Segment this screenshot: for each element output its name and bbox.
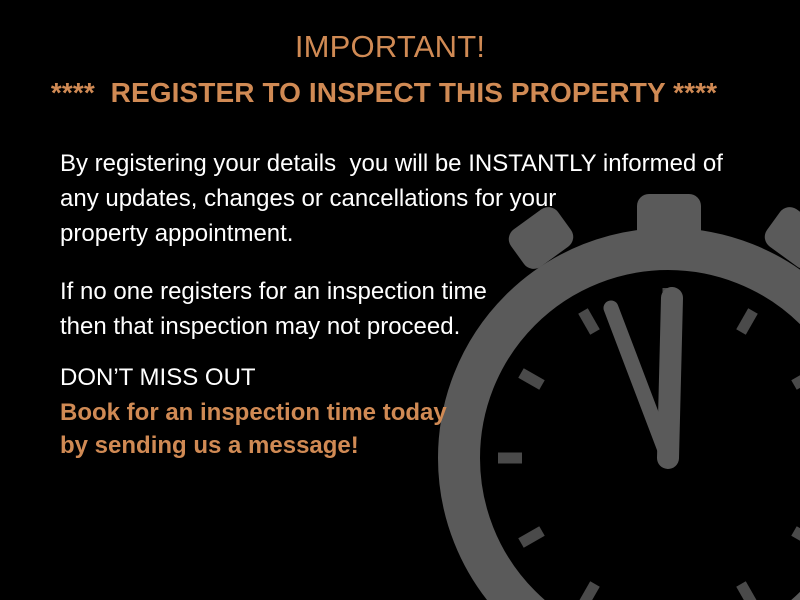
paragraph-no-one-registers: If no one registers for an inspection ti… [60,274,487,344]
promo-slide: IMPORTANT! **** REGISTER TO INSPECT THIS… [0,0,800,600]
cta-book-inspection-line: Book for an inspection time today [60,395,447,430]
cta-dont-miss-out: DON’T MISS OUT [60,360,256,395]
headline-register-to-inspect: **** REGISTER TO INSPECT THIS PROPERTY *… [0,76,768,110]
text-layer: IMPORTANT! **** REGISTER TO INSPECT THIS… [0,0,800,600]
cta-send-message-line: by sending us a message! [60,428,359,463]
paragraph-register-details: By registering your details you will be … [60,146,723,251]
headline-important: IMPORTANT! [0,28,780,66]
